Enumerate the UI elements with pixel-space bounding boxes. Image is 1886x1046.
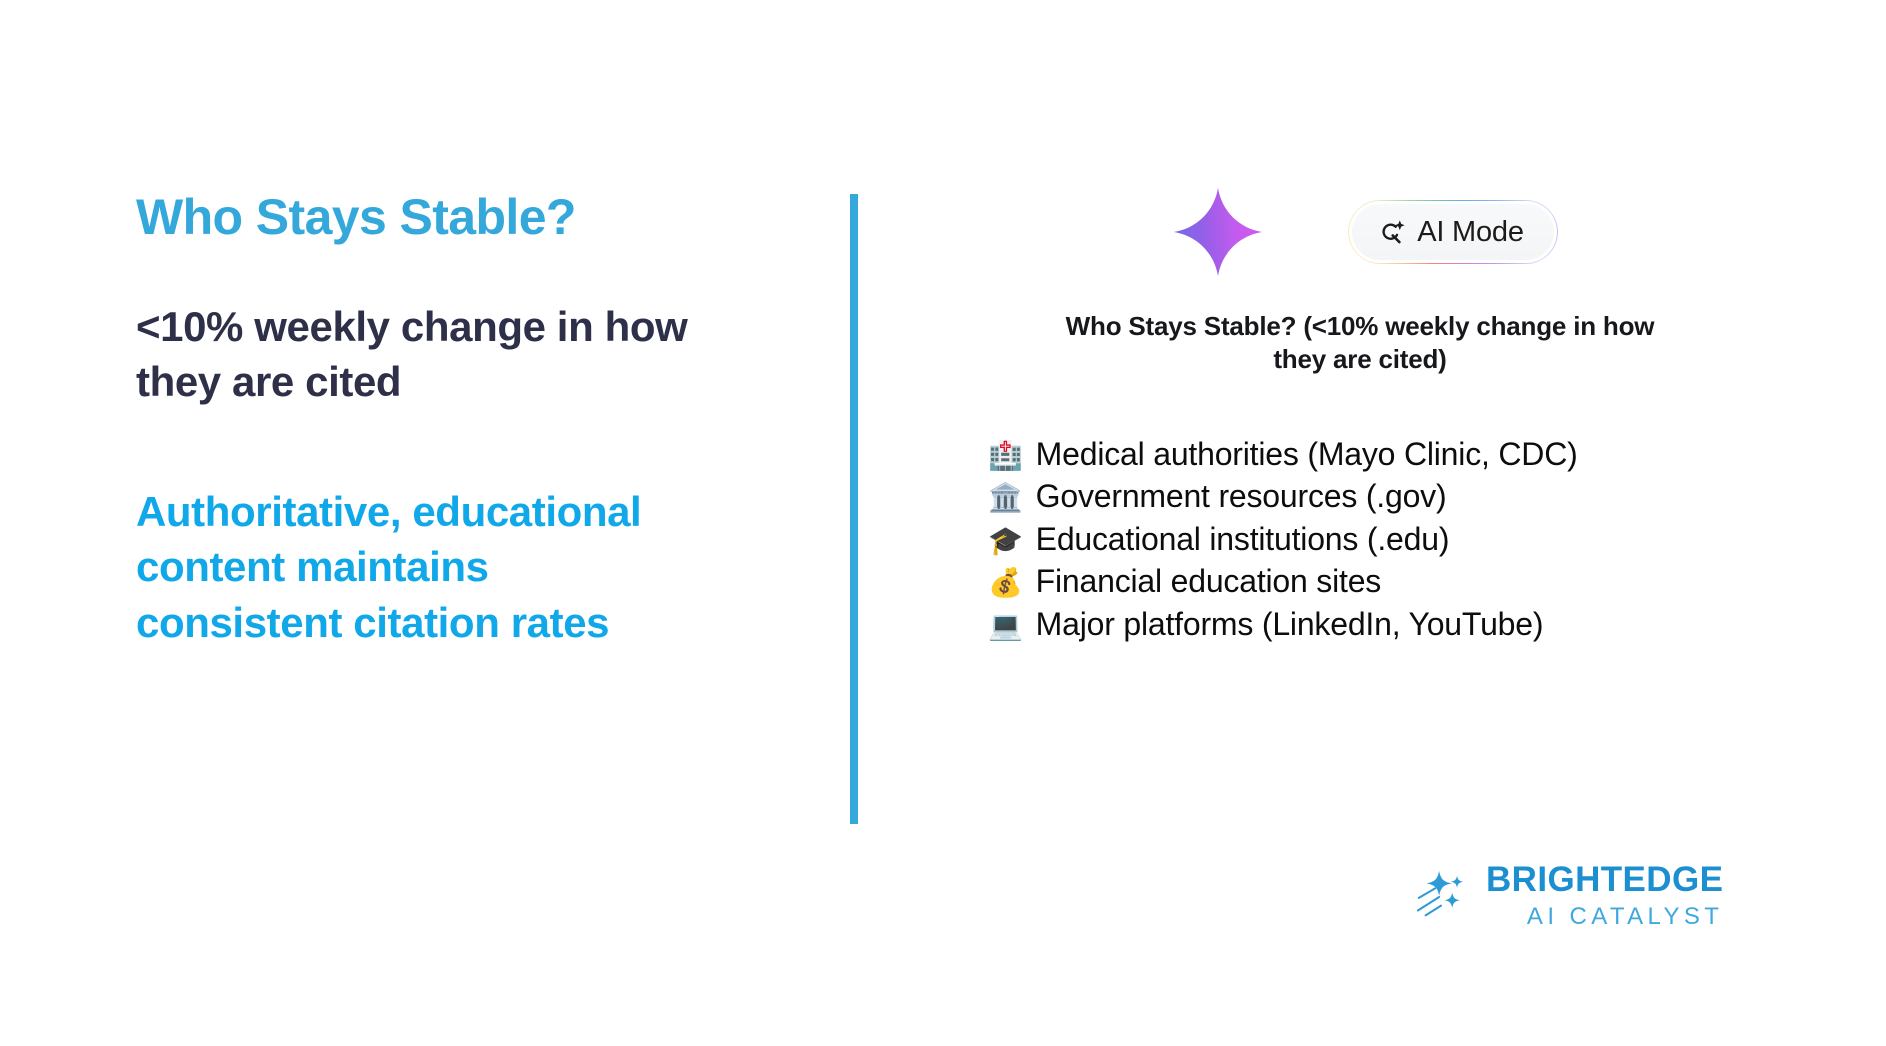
panel-title: Who Stays Stable? (<10% weekly change in… — [1040, 310, 1680, 377]
list-item-label: Educational institutions (.edu) — [1036, 518, 1450, 561]
graduation-cap-emoji: 🎓 — [988, 527, 1023, 555]
list-item-label: Government resources (.gov) — [1036, 475, 1447, 518]
page-title: Who Stays Stable? — [136, 190, 736, 245]
money-bag-emoji: 💰 — [988, 569, 1023, 597]
hospital-emoji: 🏥 — [988, 442, 1023, 470]
right-content-column: AI Mode Who Stays Stable? (<10% weekly c… — [960, 176, 1760, 645]
slide-canvas: Who Stays Stable? <10% weekly change in … — [0, 0, 1886, 1046]
list-item-label: Financial education sites — [1036, 560, 1381, 603]
vertical-divider — [850, 194, 858, 824]
logo-wordmark: BRIGHTEDGE AI CATALYST — [1486, 862, 1723, 929]
logo-tagline: AI CATALYST — [1486, 905, 1723, 929]
badge-row: AI Mode — [960, 176, 1760, 288]
laptop-emoji: 💻 — [988, 612, 1023, 640]
list-item: 🏥 Medical authorities (Mayo Clinic, CDC) — [988, 433, 1760, 476]
key-statement-text: Authoritative, educational content maint… — [136, 484, 696, 650]
ai-mode-button[interactable]: AI Mode — [1352, 204, 1554, 260]
list-item-label: Major platforms (LinkedIn, YouTube) — [1036, 603, 1544, 646]
ai-mode-label: AI Mode — [1417, 218, 1524, 247]
list-item: 💻 Major platforms (LinkedIn, YouTube) — [988, 603, 1760, 646]
stable-sources-list: 🏥 Medical authorities (Mayo Clinic, CDC)… — [960, 433, 1760, 646]
ai-mode-badge-ring: AI Mode — [1348, 200, 1558, 264]
list-item-label: Medical authorities (Mayo Clinic, CDC) — [1036, 433, 1578, 476]
sparkles-mark-icon — [1414, 867, 1472, 925]
brightedge-logo: BRIGHTEDGE AI CATALYST — [1414, 862, 1723, 929]
list-item: 🎓 Educational institutions (.edu) — [988, 518, 1760, 561]
classical-building-emoji: 🏛️ — [988, 484, 1023, 512]
logo-brand-name: BRIGHTEDGE — [1486, 862, 1723, 897]
sparkle-star-icon — [1172, 186, 1264, 278]
subheadline-text: <10% weekly change in how they are cited — [136, 299, 726, 410]
ai-search-sparkle-icon — [1376, 217, 1406, 247]
list-item: 🏛️ Government resources (.gov) — [988, 475, 1760, 518]
left-content-column: Who Stays Stable? <10% weekly change in … — [136, 190, 736, 650]
list-item: 💰 Financial education sites — [988, 560, 1760, 603]
